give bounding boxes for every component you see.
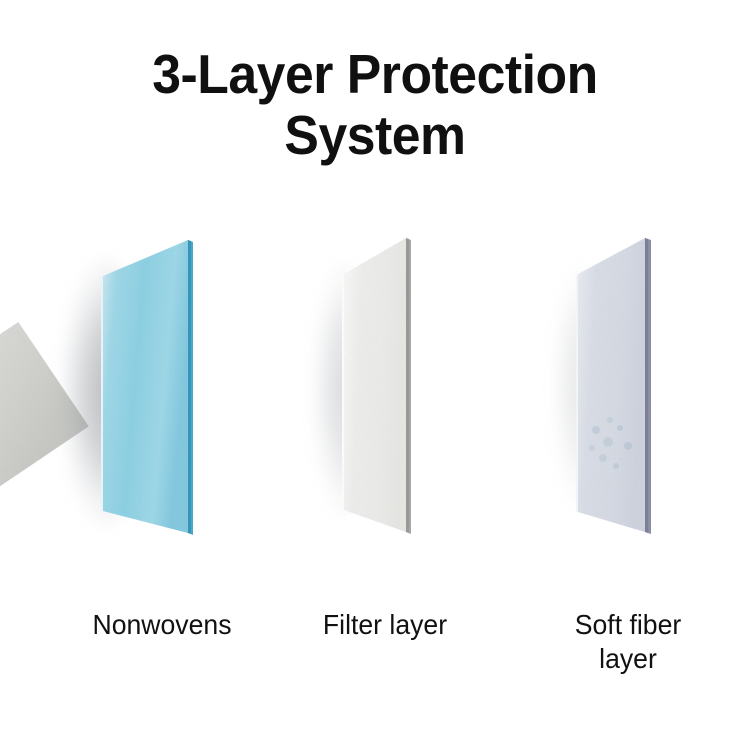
soft-fiber-sheet-shape [548, 230, 750, 550]
layer-label-filter: Filter layer [271, 608, 499, 642]
layer-panel-nonwovens [55, 230, 285, 550]
layer-panel-soft-fiber [548, 230, 750, 550]
layer-panel-filter [310, 230, 540, 550]
layer-label-nonwovens: Nonwovens [48, 608, 276, 642]
illustration-canvas: 3-Layer Protection System [0, 0, 750, 750]
filter-edge-highlight [406, 238, 409, 533]
filter-sheet-shape [310, 230, 540, 550]
nonwovens-left-cut [101, 276, 103, 511]
nonwovens-edge-highlight [188, 240, 191, 534]
soft-fiber-left-cut [576, 274, 578, 512]
soft-fiber-edge-highlight [645, 238, 648, 533]
nonwovens-sheet-shape [55, 230, 285, 550]
soft-fiber-texture [578, 238, 645, 532]
filter-left-cut [342, 274, 344, 510]
nonwovens-texture [103, 240, 188, 533]
filter-texture [344, 238, 406, 532]
layer-label-soft-fiber: Soft fiber layer [514, 608, 742, 676]
